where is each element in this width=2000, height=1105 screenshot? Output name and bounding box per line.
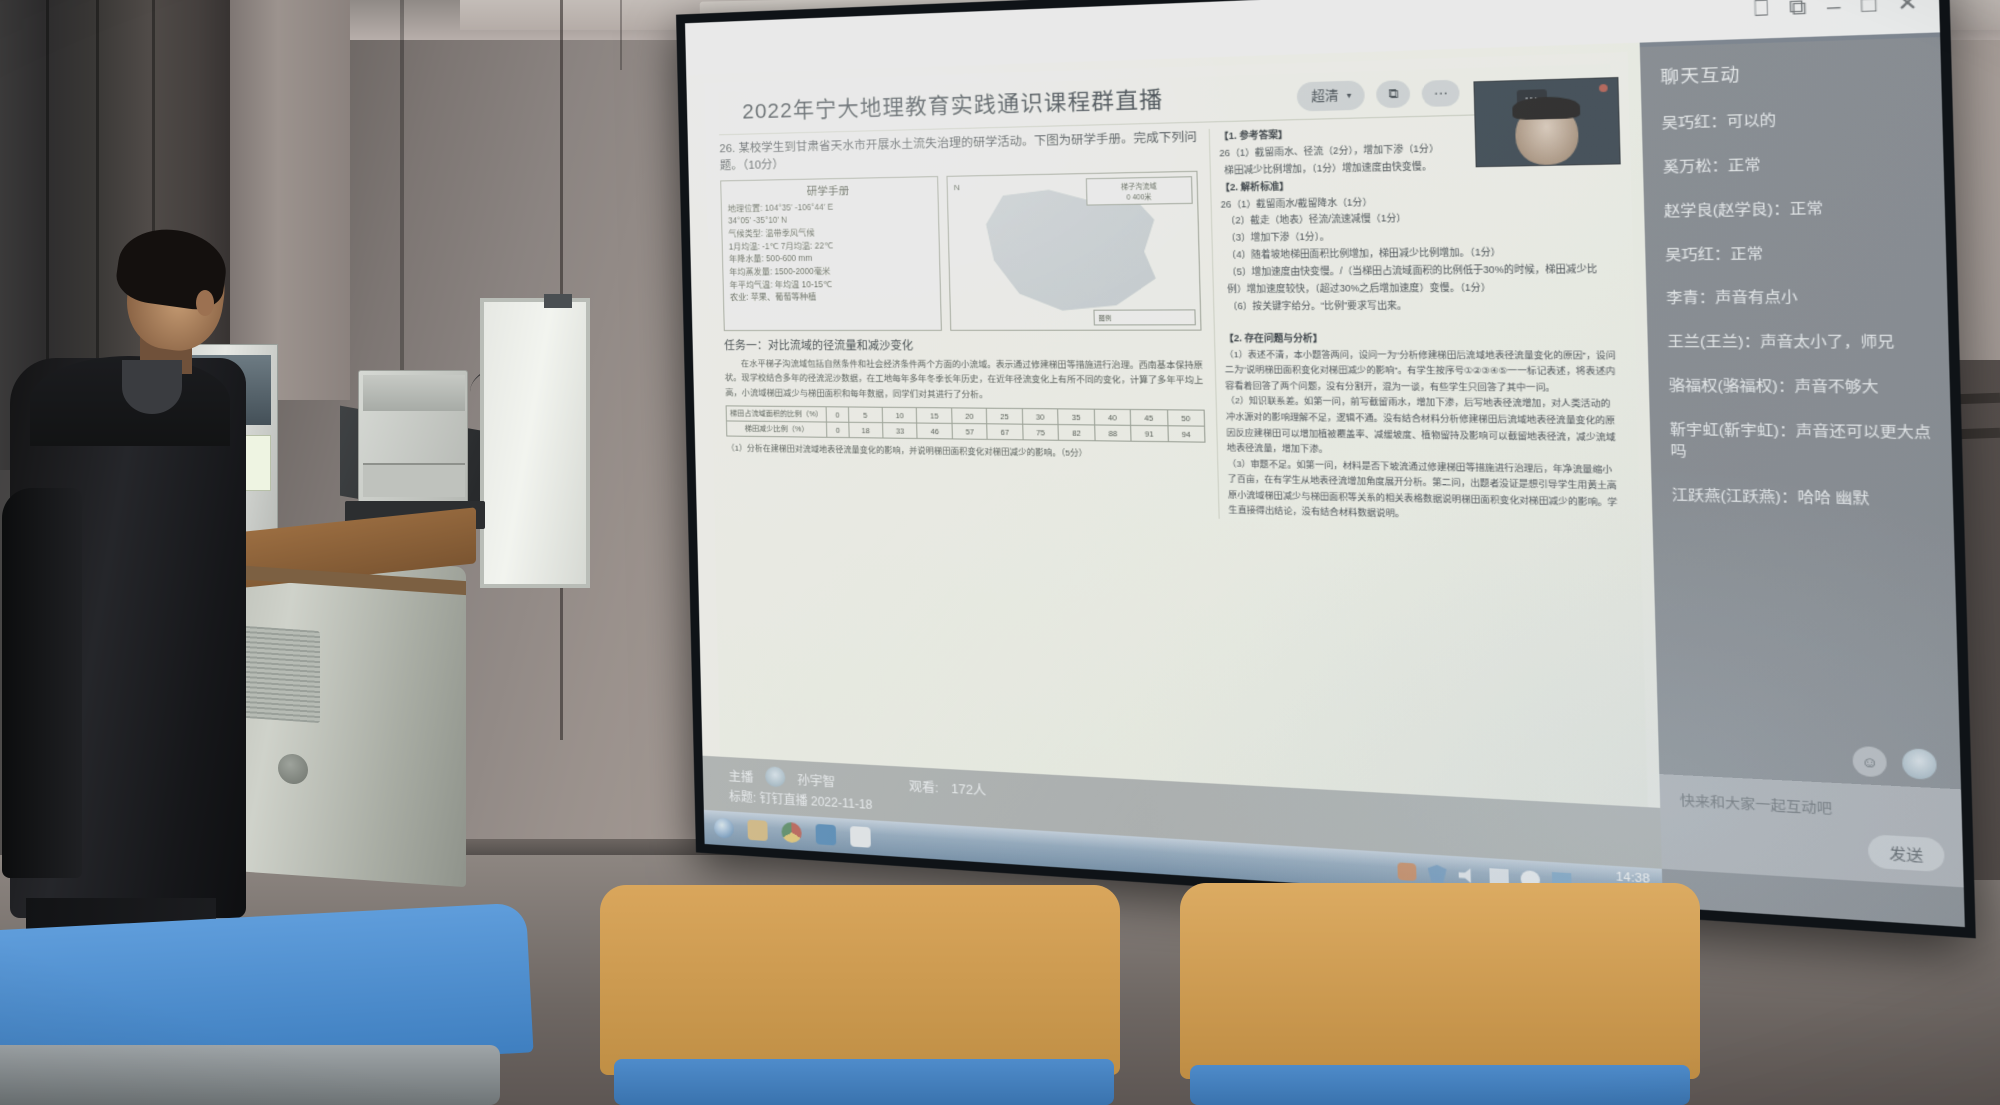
share-button[interactable]: ⧉: [1376, 80, 1410, 108]
answer-line: （5）增加速度由快变慢。/（当梯田占流域面积的比例低于30%的时候，梯田减少比: [1227, 261, 1617, 281]
data-table: 梯田占流域面积的比例（%） 0 5 10 15 20 25 30 35: [726, 405, 1206, 442]
chair-front-left: [0, 905, 630, 1105]
chat-message: 赵学良(赵学良)：正常: [1664, 196, 1927, 221]
marker-tray: [544, 294, 572, 308]
map-legend: 梯子沟流域 0 400米: [1086, 176, 1193, 205]
chat-panel: 聊天互动 吴巧红：可以的 奚万松：正常 赵学良(赵学良)：正常 吴巧红：正常 李…: [1640, 32, 1965, 927]
chevron-down-icon: ▾: [1347, 91, 1352, 101]
table-header-cell: 梯田占流域面积的比例（%）: [726, 406, 827, 422]
table-header-cell: 梯田减少比例（%）: [726, 421, 827, 437]
table-cell: 18: [848, 422, 883, 438]
taskbar-pinned-icons: [714, 818, 871, 848]
send-button[interactable]: 发送: [1868, 834, 1945, 872]
slide-right-column: 【1. 参考答案】 26（1）截留雨水、径流（2分），增加下渗（1分） 梯田减少…: [1209, 119, 1623, 528]
person-collar: [122, 360, 182, 414]
printer-tray: [363, 463, 465, 497]
chat-message: 江跃燕(江跃燕)：哈哈 幽默: [1671, 484, 1934, 510]
more-icon: ⋯: [1433, 85, 1448, 101]
projected-app: ⎕ ⧉ – □ ✕ 2022年宁大地理教育实践通识课程群直播: [685, 0, 1965, 927]
table-cell: 5: [848, 407, 883, 423]
handbook-list: 地理位置: 104°35′ -106°44′ E 34°05′ -35°10′ …: [728, 199, 934, 305]
table-cell: 45: [1130, 410, 1167, 426]
problem-item: （1）表述不清，本小题答两问，设问一为“分析修建梯田后流域地表径流量变化的原因”…: [1224, 347, 1619, 396]
table-cell: 75: [1023, 424, 1059, 440]
slide-left-column: 26. 某校学生到甘肃省天水市开展水土流失治理的研学活动。下图为研学手册。完成下…: [719, 129, 1207, 518]
table-cell: 15: [917, 408, 952, 424]
task-title: 任务一：对比流域的径流量和减沙变化: [724, 337, 1203, 354]
handbook-item: 农业: 苹果、葡萄等种植: [730, 291, 934, 305]
table-cell: 91: [1131, 425, 1168, 441]
table-cell: 46: [917, 423, 952, 439]
compass-icon: N: [954, 182, 960, 191]
chat-message: 靳宇虹(靳宇虹)：声音还可以更大点吗: [1670, 419, 1934, 465]
chair-front-middle: [600, 885, 1160, 1105]
problem-item: （3）审题不足。如第一问，材料是否下坡流通过修建梯田等措施进行治理后，年净流量缩…: [1227, 456, 1623, 527]
app-icon[interactable]: [850, 826, 871, 848]
chat-message: 李青：声音有点小: [1666, 286, 1929, 309]
shield-icon[interactable]: [1428, 864, 1447, 883]
chat-message: 吴巧红：可以的: [1661, 106, 1924, 134]
answer-line: 例）增加速度较快，（超过30%之后增加速度）变慢。（1分）: [1227, 279, 1617, 299]
maximize-icon[interactable]: □: [1861, 0, 1877, 16]
table-cell: 35: [1058, 409, 1094, 425]
research-handbook-box: 研学手册 地理位置: 104°35′ -106°44′ E 34°05′ -35…: [720, 176, 942, 331]
table-cell: 50: [1167, 410, 1205, 426]
table-cell: 94: [1167, 426, 1205, 442]
stage-area: 2022年宁大地理教育实践通识课程群直播 26. 某校学生到甘肃省天水市开展水土…: [686, 43, 1663, 908]
task-body: 在水平梯子沟流域包括自然条件和社会经济条件两个方面的小流域。表示通过修建梯田等措…: [724, 356, 1204, 404]
question-head: 26. 某校学生到甘肃省天水市开展水土流失治理的研学活动。下图为研学手册。完成下…: [719, 129, 1198, 176]
classroom-photo: ⎕ ⧉ – □ ✕ 2022年宁大地理教育实践通识课程群直播: [0, 0, 2000, 1105]
printer: [358, 370, 468, 520]
chat-input-area[interactable]: 快来和大家一起互动吧 发送: [1659, 774, 1963, 887]
app-body: 2022年宁大地理教育实践通识课程群直播 26. 某校学生到甘肃省天水市开展水土…: [686, 32, 1965, 927]
viewers-label: 观看:: [909, 775, 939, 796]
chrome-icon[interactable]: [781, 822, 802, 844]
close-icon[interactable]: ✕: [1897, 0, 1919, 15]
map-legend2-title: 图例: [1098, 312, 1191, 322]
chat-input[interactable]: 快来和大家一起互动吧: [1680, 791, 1944, 825]
quality-label: 超清: [1311, 87, 1339, 106]
chat-panel-title: 聊天互动: [1660, 56, 1923, 88]
projection-screen: ⎕ ⧉ – □ ✕ 2022年宁大地理教育实践通识课程群直播: [676, 0, 1976, 938]
problems-header: 【2. 存在问题与分析】: [1224, 330, 1618, 348]
chat-message: 吴巧红：正常: [1665, 241, 1928, 265]
sogou-icon[interactable]: [1397, 862, 1416, 881]
chair-seat: [0, 1045, 500, 1105]
emoji-icon[interactable]: ☺: [1852, 746, 1887, 778]
chair-backrest: [600, 885, 1120, 1075]
table-cell: 20: [952, 408, 988, 424]
start-orb-icon[interactable]: [714, 818, 734, 839]
screen-share-icon[interactable]: ⎕: [1754, 0, 1769, 20]
map-basin-shape: [982, 188, 1164, 311]
kugou-icon[interactable]: [815, 824, 836, 846]
table-cell: 30: [1022, 409, 1058, 425]
table-cell: 40: [1094, 409, 1131, 425]
table-cell: 10: [882, 407, 917, 423]
chair-seat: [614, 1059, 1114, 1105]
share-icon: ⧉: [1388, 86, 1398, 103]
table-cell: 0: [826, 407, 848, 423]
chair-seat: [1190, 1065, 1690, 1105]
table-cell: 82: [1058, 425, 1094, 441]
chat-message: 骆福权(骆福权)：声音不够大: [1668, 375, 1931, 398]
avatar: [765, 766, 785, 787]
handbook-item: 年平均气温: 年均温 10-15℃: [729, 278, 933, 292]
table-cell: 57: [952, 423, 988, 439]
minimize-icon[interactable]: –: [1827, 0, 1841, 17]
chair-backrest: [1180, 883, 1700, 1079]
table-cell: 67: [987, 424, 1023, 440]
handbook-title: 研学手册: [727, 181, 931, 200]
chat-message: 王兰(王兰)：声音太小了，师兄: [1667, 332, 1930, 354]
wall-seam-upper: [620, 0, 622, 70]
subject-label: 标题:: [729, 789, 756, 805]
problem-item: （2）知识联系差。如第一问，前写截留雨水，增加下渗，后写地表径流增加，对人类活动…: [1226, 394, 1622, 462]
speaker-video-pip[interactable]: ⋯: [1473, 77, 1620, 167]
printer-lid: [363, 375, 465, 411]
host-name: 孙宇智: [797, 768, 835, 789]
table-cell: 33: [883, 423, 918, 439]
subject-value: 钉钉直播 2022-11-18: [759, 791, 872, 812]
viewers-count: 172人: [951, 777, 987, 799]
chair-front-right: [1180, 885, 1740, 1105]
table-cell: 88: [1094, 425, 1131, 441]
task-note: （1）分析在建梯田对流域地表径流量变化的影响，并说明梯田面积变化对梯田减少的影响…: [726, 442, 1206, 463]
person-arm: [2, 488, 82, 878]
research-panels: 研学手册 地理位置: 104°35′ -106°44′ E 34°05′ -35…: [720, 170, 1203, 330]
table-cell: 0: [827, 422, 849, 438]
watershed-map: N 梯子沟流域 0 400米 图例: [946, 170, 1201, 330]
stage-toolbar: 超清 ▾ ⧉ ⋯: [1297, 77, 1460, 111]
avatar-icon[interactable]: [1902, 748, 1937, 780]
person-ear: [196, 290, 214, 316]
more-button[interactable]: ⋯: [1421, 79, 1459, 106]
quality-selector[interactable]: 超清 ▾: [1297, 80, 1366, 111]
speaker-hair: [1512, 96, 1581, 120]
slide-columns: 26. 某校学生到甘肃省天水市开展水土流失治理的研学活动。下图为研学手册。完成下…: [719, 119, 1623, 528]
recording-indicator-icon: [1599, 84, 1608, 92]
chat-message: 奚万松：正常: [1663, 151, 1926, 178]
table-cell: 25: [987, 408, 1023, 424]
whiteboard: [480, 298, 590, 588]
host-label: 主播: [728, 765, 753, 786]
answer-block: 【1. 参考答案】 26（1）截留雨水、径流（2分），增加下渗（1分） 梯田减少…: [1219, 119, 1623, 528]
answer-line: （6）按关键字给分。“比例”要求写出来。: [1228, 297, 1618, 316]
map-legend-secondary: 图例: [1094, 309, 1196, 325]
folder-icon[interactable]: [747, 820, 767, 841]
map-scale: 0 400米: [1090, 190, 1188, 202]
expand-icon[interactable]: ⧉: [1789, 0, 1807, 19]
